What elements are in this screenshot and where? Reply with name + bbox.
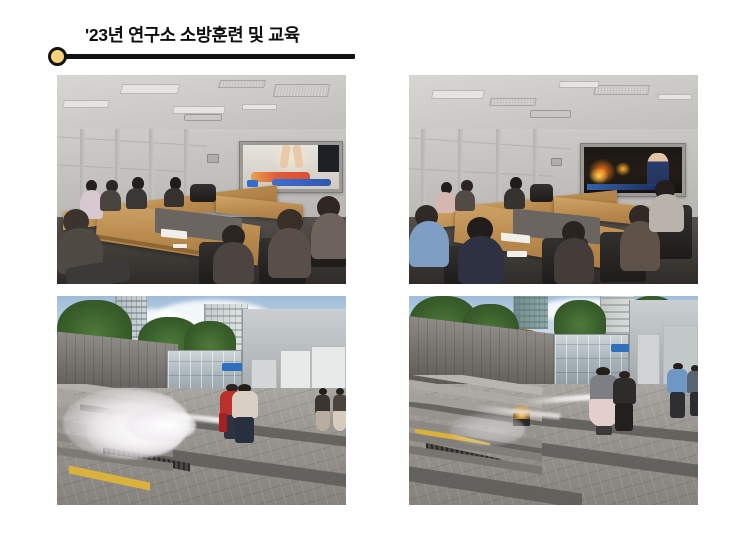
slide-title-block: '23년 연구소 소방훈련 및 교육 xyxy=(48,22,378,70)
attendee-body xyxy=(409,221,449,267)
photo-1-conference-room-cpr[interactable] xyxy=(57,75,346,284)
bullet-dot-icon xyxy=(48,47,67,66)
cpr-video-frame xyxy=(243,145,339,189)
observer-figure xyxy=(332,388,346,430)
ceiling xyxy=(57,75,346,138)
attendee-body xyxy=(126,188,146,209)
attendee-body xyxy=(554,238,594,284)
wall-speaker-icon xyxy=(207,154,219,163)
attendee-body xyxy=(458,236,504,284)
photo-2-scene xyxy=(409,75,698,284)
ceiling xyxy=(409,75,698,138)
photo-4-extinguisher-training[interactable] xyxy=(409,296,698,505)
title-underline-icon xyxy=(57,54,355,59)
attendee-body xyxy=(649,194,684,232)
photo-3-extinguisher-discharge[interactable] xyxy=(57,296,346,505)
office-chair xyxy=(530,184,553,203)
instructor-figure xyxy=(230,384,259,443)
ceiling-projector-icon xyxy=(184,114,222,122)
attendee-body xyxy=(311,213,346,259)
attendee-body xyxy=(435,192,455,213)
projection-screen xyxy=(239,141,343,193)
photo-1-scene xyxy=(57,75,346,284)
observer-figure xyxy=(314,388,331,430)
attendee-body xyxy=(164,188,184,207)
ceiling-projector-icon xyxy=(530,110,570,118)
attendee-body xyxy=(504,188,524,209)
attendee-body xyxy=(213,242,253,284)
attendee-body xyxy=(455,190,475,211)
wall-speaker-icon xyxy=(551,158,563,166)
table-document-2 xyxy=(173,244,187,248)
office-chair xyxy=(190,184,216,203)
photo-gallery xyxy=(57,75,698,514)
table-document-2 xyxy=(507,251,527,257)
photo-3-scene xyxy=(57,296,346,505)
fire-extinguisher-icon xyxy=(219,413,228,432)
spray-mist xyxy=(449,413,524,446)
instructor-figure xyxy=(611,371,637,430)
attendee-body xyxy=(100,190,120,211)
presentation-slide: '23년 연구소 소방훈련 및 교육 xyxy=(0,0,750,536)
page-title: '23년 연구소 소방훈련 및 교육 xyxy=(85,22,300,47)
photo-2-conference-room-fire-video[interactable] xyxy=(409,75,698,284)
observer-figure xyxy=(686,365,698,415)
attendee-body xyxy=(268,228,311,278)
photo-4-scene xyxy=(409,296,698,505)
